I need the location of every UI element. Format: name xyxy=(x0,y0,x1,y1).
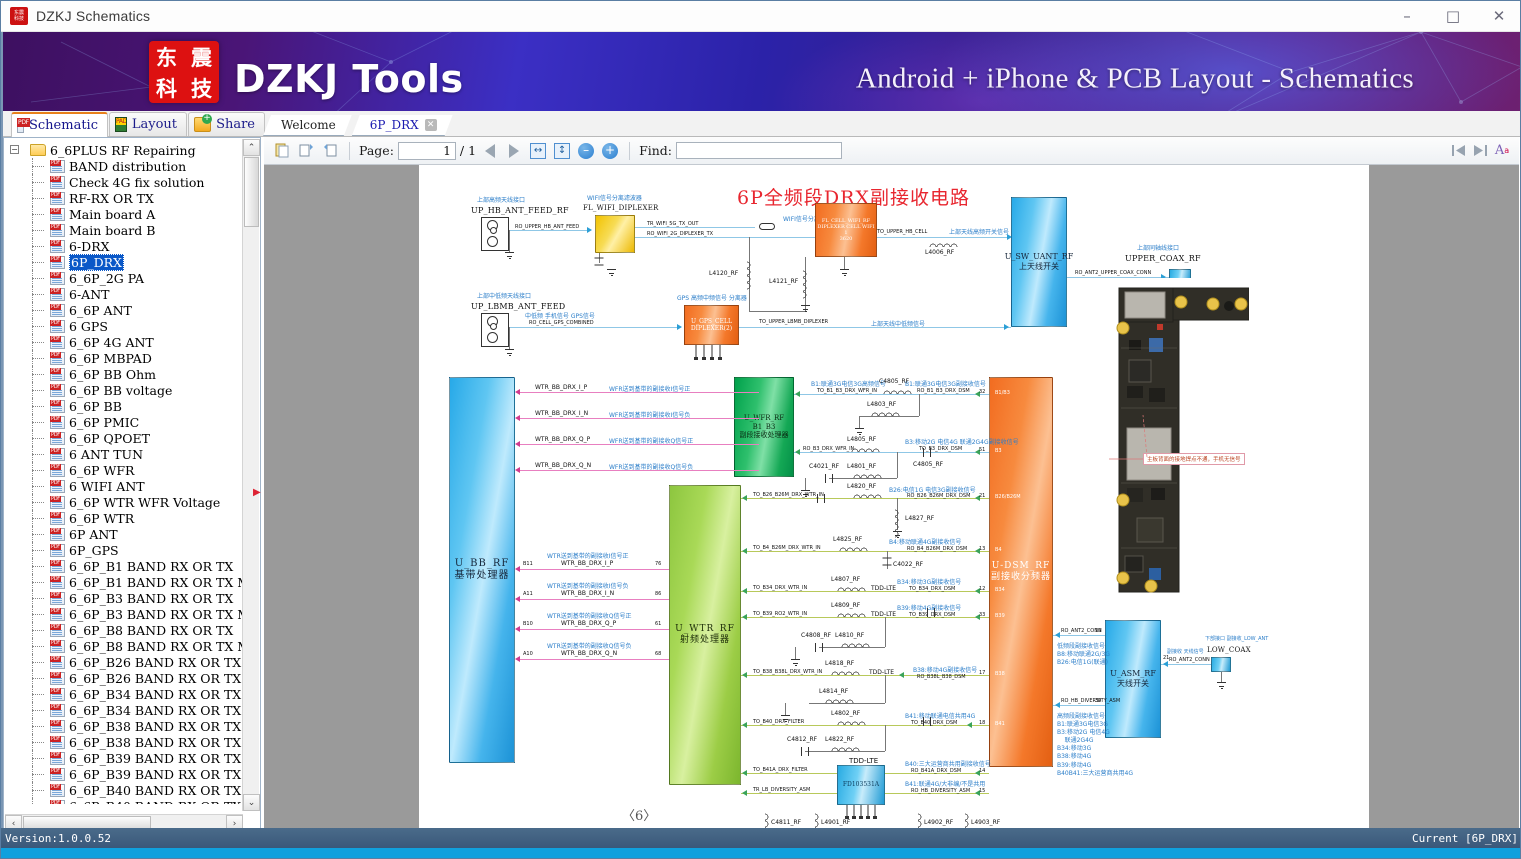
file-tree-panel: − 6_6PLUS RF Repairing BAND distribution… xyxy=(3,137,261,833)
pdf-file-icon xyxy=(50,320,65,333)
cap-c4020b xyxy=(883,558,892,566)
pdf-file-icon xyxy=(50,576,65,589)
lbl-net-29: TR_LB_DIVERSITY_ASM xyxy=(753,787,810,793)
logo-char-1: 东 xyxy=(156,42,177,72)
tree-guide-dash xyxy=(32,246,44,247)
annot-wtr-q-n: WTR送到基带的副接收Q信号负 xyxy=(547,641,632,650)
tree-item[interactable]: 6_6P_B8 BAND RX OR TX xyxy=(4,622,242,638)
tree-guide-dash xyxy=(32,630,44,631)
prev-page-icon[interactable] xyxy=(480,141,500,161)
cap-c4811 xyxy=(923,717,931,726)
tree-guide-dash xyxy=(32,166,44,167)
pin-68: 68 xyxy=(655,651,661,657)
lbl-net-17: TO_B4_B26M_DRX_WTR_IN xyxy=(753,545,821,551)
tree-item-label: 6_6P_B1 BAND RX OR TX xyxy=(69,559,233,574)
ground-symbol-11 xyxy=(791,659,800,666)
tree-guide-dash xyxy=(32,310,44,311)
net-label-ro-upper-hb: RO_UPPER_HB_ANT_FEED xyxy=(515,224,579,230)
pin-num-12: 12 xyxy=(979,586,985,592)
tree-guide-dash xyxy=(32,582,44,583)
tree-item-label: 6-DRX xyxy=(69,239,110,254)
tree-guide-dash xyxy=(32,790,44,791)
block-bb-name: U_BB_RF xyxy=(455,558,510,571)
dsm-pin-b39: B39 xyxy=(995,613,1005,619)
schematic-canvas: 6P全频段DRX副接收电路 上部高频天线接口 UP_HB_ANT_FEED_RF… xyxy=(419,165,1369,833)
tree-item-label: 6_6P BB xyxy=(69,399,122,414)
status-bar: Version:1.0.0.52 Current [6P_DRX] xyxy=(1,828,1521,848)
tree-item[interactable]: 6_6P PMIC xyxy=(4,414,242,430)
fit-page-icon[interactable]: ↕ xyxy=(552,141,572,161)
fit-width-icon[interactable]: ↔ xyxy=(528,141,548,161)
dsm-pin-b4: B4 xyxy=(995,547,1002,553)
inductor-l4801 xyxy=(853,471,882,478)
pdf-viewport[interactable]: 6P全频段DRX副接收电路 上部高频天线接口 UP_HB_ANT_FEED_RF… xyxy=(264,165,1519,833)
pin-num-51: 51 xyxy=(979,447,985,453)
zoom-in-button[interactable]: + xyxy=(600,141,620,161)
tree-guide-dash xyxy=(32,694,44,695)
tree-item[interactable]: 6_6P_B1 BAND RX OR TX Mai xyxy=(4,574,242,590)
pdf-file-icon xyxy=(50,448,65,461)
tree-item-label: 6_6P_B39 BAND RX OR TX xyxy=(69,751,241,766)
tree-guide-dash xyxy=(32,214,44,215)
tree-item[interactable]: 6 ANT TUN xyxy=(4,446,242,462)
signal-arrow-1 xyxy=(587,227,592,233)
tree-item-label: 6_6P_B38 BAND RX OR TX Ma xyxy=(69,735,242,750)
logo-char-3: 科 xyxy=(156,73,177,103)
doc-tab-6p-drx[interactable]: 6P_DRX ✕ xyxy=(352,115,453,136)
block-u-sw-uant-cn: 上天线开关 xyxy=(1019,262,1059,272)
tree-guide-dash xyxy=(32,422,44,423)
panel-splitter-handle[interactable]: ▶ xyxy=(253,481,260,505)
pdf-file-icon xyxy=(50,192,65,205)
status-current: Current [6P_DRX] xyxy=(1412,832,1518,845)
tree-guide-dash xyxy=(32,454,44,455)
tab-layout[interactable]: Layout xyxy=(109,112,187,136)
lbl-net-27: TO_B41A_DRX_FILTER xyxy=(753,767,808,773)
block-asm-cn: 天线开关 xyxy=(1117,679,1149,689)
net-b3-path xyxy=(794,452,989,453)
find-next-icon[interactable] xyxy=(1471,142,1489,160)
block-tdd-lte-filter[interactable]: FD103531A xyxy=(837,765,885,805)
net-hb-diversity xyxy=(1053,705,1105,706)
annot-b41a: B41:联通4G/大非编/不是共用 xyxy=(905,779,985,788)
pdf-file-icon xyxy=(50,768,65,781)
close-button[interactable]: ✕ xyxy=(1476,1,1521,32)
dsm-pin-b41: B41 xyxy=(995,721,1005,727)
net-label-ro-cell-gps: RO_CELL_GPS_COMBINED xyxy=(529,320,594,326)
tree-item[interactable]: 6-DRX xyxy=(4,238,242,254)
annot-wtr-i-p: WTR送到基带的副接收I信号正 xyxy=(547,551,629,560)
pdf-toolbar: Page: / 1 ↔ ↕ – + Find: Aa xyxy=(264,137,1519,165)
net-b40-filter xyxy=(741,773,837,774)
scroll-down-icon[interactable]: ⌄ xyxy=(243,794,260,811)
pdf-file-icon xyxy=(50,272,65,285)
page-label: Page: xyxy=(359,143,394,158)
tree-item-label: 6_6P WFR xyxy=(69,463,134,478)
net-wire-1 xyxy=(509,230,587,231)
maximize-button[interactable]: □ xyxy=(1430,1,1476,32)
lbl-comp-l4822: L4822_RF xyxy=(825,736,854,743)
tree-item-label: 6 ANT TUN xyxy=(69,447,143,462)
pdf-file-icon xyxy=(50,480,65,493)
doc-tab-6p-drx-label: 6P_DRX xyxy=(370,118,419,132)
find-options-icon[interactable]: Aa xyxy=(1493,142,1511,160)
page-input[interactable] xyxy=(398,142,456,160)
comp-label-l4006-top: L4006_RF xyxy=(925,249,954,256)
tree-item[interactable]: 6_6P WTR xyxy=(4,510,242,526)
net-lb-diversity xyxy=(1053,635,1105,636)
cap-c4808 xyxy=(815,643,823,652)
pin-76: 76 xyxy=(655,561,661,567)
lbl-comp-l4006: C4805_RF xyxy=(879,378,909,385)
tree-item[interactable]: 6_6P QPOET xyxy=(4,430,242,446)
tree-guide-dash xyxy=(32,662,44,663)
tree-item-label: BAND distribution xyxy=(69,159,186,174)
lbl-net-10b: WTR_BB_DRX_Q_N xyxy=(561,650,617,657)
pdf-file-icon xyxy=(50,336,65,349)
lbl-net-26: TO_B40_DRX_DSM xyxy=(911,720,957,726)
block-gps-sub: DIPLEXER(2) xyxy=(691,325,732,333)
block-label-diplexer: FL_WIFI_DIPLEXER xyxy=(583,204,659,212)
doc-tab-welcome[interactable]: Welcome xyxy=(263,115,352,136)
tdd-pin-group xyxy=(843,805,885,821)
block-dsm-cn: 副接收分频器 xyxy=(991,572,1051,583)
inductor-l4807 xyxy=(837,584,866,591)
annot-wifi-diplexer: WIFI信号分离滤波器 xyxy=(587,193,642,202)
pdf-file-icon xyxy=(50,352,65,365)
connector-pad-4 xyxy=(487,332,498,343)
lbl-net-8: WTR_BB_DRX_I_N xyxy=(535,410,588,417)
pdf-file-icon xyxy=(50,224,65,237)
lbl-net-24: RO_B38L_B38_DSM xyxy=(917,674,966,680)
block-tdd-name: FD103531A xyxy=(843,781,879,789)
test-point-1 xyxy=(759,223,775,230)
pdf-file-icon xyxy=(50,784,65,797)
annot-wfr-i-n: WFR送到基带的副接收I信号负 xyxy=(609,410,690,419)
share-folder-icon xyxy=(194,117,211,132)
net-wtr-bb-i-n xyxy=(519,599,669,600)
tree-guide-dash xyxy=(32,518,44,519)
pdf-file-icon xyxy=(50,496,65,509)
block-wtr-name: U_WTR_RF xyxy=(675,624,735,635)
dsm-pin-b1b3: B1/B3 xyxy=(995,390,1010,396)
inductor-l4803 xyxy=(871,409,900,416)
pdf-file-icon xyxy=(50,544,65,557)
tree-item[interactable]: 6 GPS xyxy=(4,318,242,334)
tree-item[interactable]: BAND distribution xyxy=(4,158,242,174)
block-bb-cn: 基带处理器 xyxy=(455,570,510,583)
net-label-to-upper-lbmb: TO_UPPER_LBMB_DIPLEXER xyxy=(759,319,828,325)
tree-guide-dash xyxy=(32,278,44,279)
net-label-ro-ant2-coax: RO_ANT2_UPPER_COAX_CONN xyxy=(1075,270,1151,276)
lbl-comp-l4827: L4827_RF xyxy=(905,515,934,522)
find-input[interactable] xyxy=(676,142,842,159)
annot-upper-ant: 上部天线高频开关信号 xyxy=(949,227,1009,236)
file-tree: − 6_6PLUS RF Repairing BAND distribution… xyxy=(4,142,242,804)
cap-c4021 xyxy=(825,474,833,483)
block-fl-wifi-diplexer[interactable] xyxy=(595,215,635,253)
block-u-bb-rf[interactable]: U_BB_RF 基带处理器 xyxy=(449,377,515,763)
tree-guide-dash xyxy=(32,614,44,615)
tree-item-label: 6_6P_B3 BAND RX OR TX Mai xyxy=(69,607,242,622)
toolbar-separator-2 xyxy=(629,142,630,160)
tree-item[interactable]: 6_6P_B26 BAND RX OR TX Ma xyxy=(4,670,242,686)
pdf-file-icon xyxy=(50,240,65,253)
block-u-sw-uant-rf[interactable]: U_SW_UANT_RF 上天线开关 xyxy=(1011,197,1067,327)
banner-brand-text: DZKJ Tools xyxy=(234,57,464,101)
scroll-up-icon[interactable]: ⌃ xyxy=(243,139,260,156)
tab-layout-label: Layout xyxy=(132,117,177,132)
tree-item[interactable]: 6_6P_B8 BAND RX OR TX Mai xyxy=(4,638,242,654)
tree-item-label: 6_6P_B8 BAND RX OR TX Mai xyxy=(69,639,242,654)
tree-item[interactable]: 6_6P WFR xyxy=(4,462,242,478)
tree-item-label: 6 GPS xyxy=(69,319,108,334)
pin-b11: B11 xyxy=(523,561,533,567)
pdf-file-icon xyxy=(50,368,65,381)
pin-num-15: 15 xyxy=(979,788,985,794)
copy-icon[interactable] xyxy=(272,141,292,161)
pdf-icon xyxy=(17,118,24,133)
lbl-net-19: TO_B34_DRX_WTR_IN xyxy=(753,585,807,591)
pdf-file-icon xyxy=(50,800,65,805)
annot-b34: B34:移动3G副接收信号 xyxy=(897,577,961,586)
tree-guide-dash xyxy=(32,326,44,327)
block-antenna-diplexer[interactable]: FL_CELL_WIFI_RFDIPLEXER CELL WIFI 13620 xyxy=(815,203,877,257)
net-label-ro-ant2-conn: RO_ANT2_CONN xyxy=(1169,657,1210,663)
lbl-net-hb-div: RO_HB_DIVERSITY_ASM xyxy=(1061,698,1120,704)
close-icon[interactable]: ✕ xyxy=(425,119,437,131)
expander-icon[interactable]: − xyxy=(10,145,19,154)
tree-guide-dash xyxy=(32,646,44,647)
pdf-file-icon xyxy=(50,400,65,413)
tree-item[interactable]: 6P_GPS xyxy=(4,542,242,558)
comp-label-l4121: L4121_RF xyxy=(769,278,798,285)
gps-pin-group xyxy=(691,345,735,361)
find-label: Find: xyxy=(639,143,672,158)
tree-item[interactable]: 6_6P_B39 BAND RX OR TX Ma xyxy=(4,766,242,782)
dsm-pin-b41a: B41A xyxy=(995,789,1008,795)
tree-guide-dash xyxy=(32,598,44,599)
tree-guide-dash xyxy=(32,534,44,535)
tab-schematic-label: Schematic xyxy=(29,118,98,133)
ground-symbol-8 xyxy=(855,428,864,435)
cap-c4020 xyxy=(817,494,825,503)
block-u-dsm-rf[interactable]: U-DSM_RF 副接收分频器 xyxy=(989,377,1053,767)
lbl-tdd-lte-2: TDD-LTE xyxy=(871,611,896,618)
tree-item-label: 6_6P WTR WFR Voltage xyxy=(69,495,220,510)
lbl-net-18: RO_B4_B26M_DRX_DSM xyxy=(907,546,967,552)
lbl-comp-l4820: L4820_RF xyxy=(847,483,876,490)
tree-item-label: RF-RX OR TX xyxy=(69,191,154,206)
document-tab-bar: Welcome 6P_DRX ✕ xyxy=(263,114,453,136)
annot-wtr-i-n: WTR送到基带的副接收I信号负 xyxy=(547,581,629,590)
tab-share-label: Share xyxy=(216,117,255,132)
block-u-gps-cell[interactable]: U_GPS_CELL DIPLEXER(2) xyxy=(684,305,739,345)
tree-item-label: 6_6P_B38 BAND RX OR TX xyxy=(69,719,241,734)
pdf-file-icon xyxy=(50,688,65,701)
tree-item[interactable]: 6_6P BB voltage xyxy=(4,382,242,398)
tree-item-label: 6_6P_B1 BAND RX OR TX Mai xyxy=(69,575,242,590)
tree-item[interactable]: 6 WIFI ANT xyxy=(4,478,242,494)
brand-banner: 东 震 科 技 DZKJ Tools Android + iPhone & PC… xyxy=(1,32,1521,111)
pin-num-32: 32 xyxy=(979,389,985,395)
lbl-comp-l4818: L4818_RF xyxy=(825,660,854,667)
tree-item-label: 6_6P_B40 BAND RX OR TX Ma xyxy=(69,799,242,805)
application-window: 东震科技 DZKJ Schematics – □ ✕ xyxy=(0,0,1521,859)
tree-item[interactable]: Check 4G fix solution xyxy=(4,174,242,190)
tab-schematic[interactable]: Schematic xyxy=(11,112,108,137)
net-wtr-bb-q-n xyxy=(519,659,669,660)
snapshot-icon[interactable] xyxy=(296,141,316,161)
lbl-comp-c4805: C4805_RF xyxy=(913,461,943,468)
inductor-l4820 xyxy=(853,491,882,498)
tree-item[interactable]: 6_6P 4G ANT xyxy=(4,334,242,350)
tree-item[interactable]: 6_6P BB xyxy=(4,398,242,414)
tree-guide-dash xyxy=(32,726,44,727)
conn-label-up-hb: UP_HB_ANT_FEED_RF xyxy=(471,206,569,215)
inductor-l4825 xyxy=(839,544,868,551)
tree-item[interactable]: 6_6P_B40 BAND RX OR TX xyxy=(4,782,242,798)
net-wtr-bb-i-p xyxy=(519,569,669,570)
folder-icon xyxy=(30,144,46,156)
tree-root-node[interactable]: − 6_6PLUS RF Repairing xyxy=(4,142,242,158)
title-bar: 东震科技 DZKJ Schematics – □ ✕ xyxy=(1,1,1521,32)
tree-item[interactable]: 6P ANT xyxy=(4,526,242,542)
lbl-net-15: TO_B26_B26M_DRX_WTR_IN xyxy=(753,492,824,498)
tree-item[interactable]: 6_6P MBPAD xyxy=(4,350,242,366)
annot-low-coax: 下部接口 副接收_LOW_ANT xyxy=(1205,635,1268,642)
tree-vertical-scrollbar[interactable]: ⌃ ⌄ xyxy=(242,139,259,811)
tree-item[interactable]: 6_6P_B1 BAND RX OR TX xyxy=(4,558,242,574)
tree-item[interactable]: 6_6P_B34 BAND RX OR TX Ma xyxy=(4,702,242,718)
lbl-comp-l4904: L4903_RF xyxy=(971,819,1000,826)
pdf-file-icon xyxy=(50,528,65,541)
tree-item[interactable]: Main board B xyxy=(4,222,242,238)
tree-item[interactable]: 6_6P_2G PA xyxy=(4,270,242,286)
conn-label-low-coax: LOW_COAX xyxy=(1207,646,1251,654)
tree-item-label: 6_6P_2G PA xyxy=(69,271,144,286)
logo-char-2: 震 xyxy=(191,42,212,72)
annot-upper-mb: 上部天线中低频信号 xyxy=(871,319,925,328)
tree-guide-dash xyxy=(32,374,44,375)
lbl-net-13: RO_B3_DRX_WFR_IN xyxy=(803,446,854,452)
pin-61: 61 xyxy=(655,621,661,627)
annot-b41: B41:移动联通电信共用4G xyxy=(905,711,975,720)
lbl-comp-l4805: L4805_RF xyxy=(847,436,876,443)
annot-wtr-q-p: WTR送到基带的副接收Q信号正 xyxy=(547,611,632,620)
tree-item-label: 6_6P_B39 BAND RX OR TX Ma xyxy=(69,767,242,782)
minimize-button[interactable]: – xyxy=(1384,1,1430,32)
block-asm-name: U_ASM_RF xyxy=(1110,669,1156,679)
net-label-tr-wifi-5g: TR_WIFI_5G_TX_OUT xyxy=(647,221,698,227)
tree-item[interactable]: 6_6P_B26 BAND RX OR TX xyxy=(4,654,242,670)
tree-guide-dash xyxy=(32,390,44,391)
tree-item-label: 6_6P MBPAD xyxy=(69,351,152,366)
tree-item-label: 6_6P_B26 BAND RX OR TX Ma xyxy=(69,671,242,686)
next-page-icon[interactable] xyxy=(504,141,524,161)
tree-item[interactable]: 6_6P BB Ohm xyxy=(4,366,242,382)
net-label-to-upper-hb: TO_UPPER_HB_CELL xyxy=(877,229,927,235)
tree-item[interactable]: 6_6P ANT xyxy=(4,302,242,318)
tree-item[interactable]: 6_6P_B34 BAND RX OR TX xyxy=(4,686,242,702)
tree-item[interactable]: 6_6P WTR WFR Voltage xyxy=(4,494,242,510)
lbl-comp-l4809: L4809_RF xyxy=(831,602,860,609)
tree-item-label: 6_6P BB Ohm xyxy=(69,367,156,382)
lbl-net-20: TO_B34_DRX_DSM xyxy=(909,586,955,592)
pdf-file-icon xyxy=(50,608,65,621)
pin-86: 86 xyxy=(655,591,661,597)
net-wtr-bb-q-p xyxy=(519,629,669,630)
tree-item-label: 6_6P_B3 BAND RX OR TX xyxy=(69,591,233,606)
tree-item[interactable]: 6_6P_B3 BAND RX OR TX Mai xyxy=(4,606,242,622)
tree-item-label: 6_6P QPOET xyxy=(69,431,150,446)
lbl-comp-l4801: L4801_RF xyxy=(847,463,876,470)
banner-subtitle: Android + iPhone & PCB Layout - Schemati… xyxy=(856,63,1414,96)
pdf-file-icon xyxy=(50,160,65,173)
ground-symbol-7 xyxy=(1217,682,1226,689)
block-u-wtr-rf[interactable]: U_WTR_RF 射频处理器 xyxy=(669,485,741,785)
snapshot-alt-icon[interactable] xyxy=(320,141,340,161)
block-u-sw-uant-name: U_SW_UANT_RF xyxy=(1005,252,1074,262)
asm-pin-39: 39 xyxy=(1095,698,1101,704)
lbl-comp-l4901: C4811_RF xyxy=(771,819,801,826)
tree-item[interactable]: 6_6P_B38 BAND RX OR TX Ma xyxy=(4,734,242,750)
inductor-l4805 xyxy=(851,445,880,452)
tree-guide-dash xyxy=(32,566,44,567)
tree-guide-dash xyxy=(32,470,44,471)
lbl-net-9b: WTR_BB_DRX_Q_P xyxy=(561,620,616,627)
tree-guide-dash xyxy=(32,678,44,679)
tree-item[interactable]: RF-RX OR TX xyxy=(4,190,242,206)
pdf-file-icon xyxy=(50,624,65,637)
annot-b38: B38:移动4G副接收信号 xyxy=(913,665,977,674)
annot-up-hb-ant: 上部高频天线接口 xyxy=(477,195,525,204)
block-wfr-cn: 副段接收处理器 xyxy=(740,431,789,440)
app-logo-icon: 东震科技 xyxy=(10,7,28,25)
tree-item[interactable]: Main board A xyxy=(4,206,242,222)
pdf-file-icon xyxy=(50,288,65,301)
tree-guide-dash xyxy=(32,230,44,231)
block-wtr-cn: 射频处理器 xyxy=(680,635,730,646)
window-title: DZKJ Schematics xyxy=(36,8,150,24)
zoom-out-button[interactable]: – xyxy=(576,141,596,161)
tree-item[interactable]: 6_6P_B39 BAND RX OR TX xyxy=(4,750,242,766)
tree-item[interactable]: 6-ANT xyxy=(4,286,242,302)
connector-low-coax[interactable] xyxy=(1211,657,1231,672)
vscroll-thumb[interactable] xyxy=(244,157,259,227)
lbl-comp-l4903: L4902_RF xyxy=(924,819,953,826)
annot-b3: B3:移动2G 电信4G 联通2G4G副接收信号 xyxy=(905,437,1019,446)
pdf-file-icon xyxy=(50,656,65,669)
tree-item[interactable]: 6_6P_B40 BAND RX OR TX Ma xyxy=(4,798,242,804)
pdf-file-icon xyxy=(50,640,65,653)
mode-tab-bar: Schematic Layout Share xyxy=(1,111,1521,137)
lbl-net-8b: WTR_BB_DRX_I_N xyxy=(561,590,614,597)
lbl-comp-c4812: C4812_RF xyxy=(787,736,817,743)
lbl-tdd-lte-block: TDD-LTE xyxy=(849,757,878,765)
tab-share[interactable]: Share xyxy=(188,112,265,136)
tree-item[interactable]: 6_6P_B38 BAND RX OR TX xyxy=(4,718,242,734)
inductor-l4814 xyxy=(825,696,854,703)
tree-item[interactable]: 6P_DRX xyxy=(4,254,242,270)
find-prev-icon[interactable] xyxy=(1449,142,1467,160)
tree-item[interactable]: 6_6P_B3 BAND RX OR TX xyxy=(4,590,242,606)
tree-item-label: 6_6P BB voltage xyxy=(69,383,172,398)
cap-c4504 xyxy=(927,608,935,617)
pdf-file-icon xyxy=(50,304,65,317)
inductor-l4822 xyxy=(831,744,860,751)
pdf-file-icon xyxy=(50,752,65,765)
